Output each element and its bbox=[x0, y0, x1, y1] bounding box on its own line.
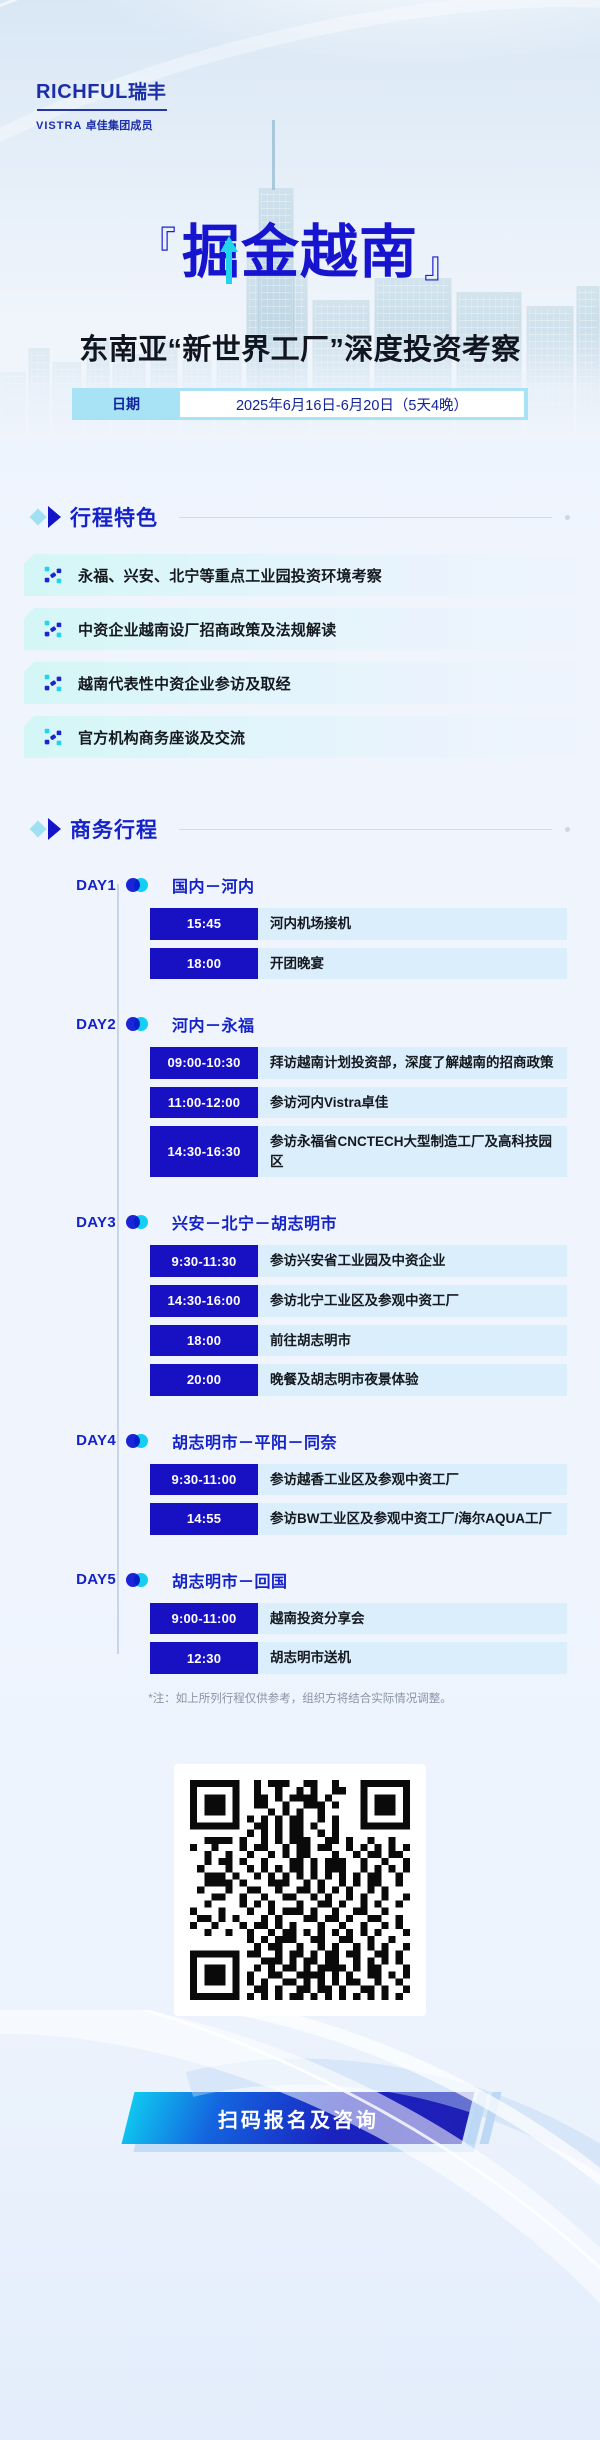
row-desc: 前往胡志明市 bbox=[258, 1325, 567, 1357]
itinerary-row: 18:00 开团晚宴 bbox=[150, 948, 567, 980]
day-header: DAY4 胡志明市－平阳－同奈 bbox=[0, 1426, 600, 1456]
row-desc: 参访永福省CNCTECH大型制造工厂及高科技园区 bbox=[258, 1126, 567, 1177]
row-time: 14:30-16:30 bbox=[150, 1126, 258, 1177]
day-route: 河内－永福 bbox=[172, 1012, 255, 1036]
signup-button[interactable]: 扫码报名及咨询 bbox=[122, 2092, 475, 2144]
row-desc: 越南投资分享会 bbox=[258, 1603, 567, 1635]
row-desc: 晚餐及胡志明市夜景体验 bbox=[258, 1364, 567, 1396]
signup-button-label: 扫码报名及咨询 bbox=[218, 2103, 379, 2132]
page-subtitle: 东南亚“新世界工厂”深度投资考察 bbox=[0, 326, 600, 368]
main-title-text: 掘金越南 bbox=[182, 220, 418, 285]
feature-label: 越南代表性中资企业参访及取经 bbox=[78, 673, 291, 694]
day-header: DAY1 国内－河内 bbox=[0, 870, 600, 900]
feature-item: 中资企业越南设厂招商政策及法规解读 bbox=[24, 608, 576, 650]
qr-code-icon[interactable] bbox=[183, 1773, 417, 2007]
page-title: 掘金越南 bbox=[182, 224, 418, 282]
itinerary-row: 20:00 晚餐及胡志明市夜景体验 bbox=[150, 1364, 567, 1396]
feature-item: 永福、兴安、北宁等重点工业园投资环境考察 bbox=[24, 554, 576, 596]
itinerary-row: 15:45 河内机场接机 bbox=[150, 908, 567, 940]
day-marker-icon bbox=[126, 1573, 172, 1587]
logo-divider bbox=[37, 109, 167, 111]
bracket-left: 『 bbox=[140, 227, 176, 263]
itinerary-section-header: 商务行程 bbox=[32, 814, 570, 844]
section-end-dot bbox=[565, 515, 570, 520]
row-time: 12:30 bbox=[150, 1642, 258, 1674]
logo-ruifeng: 瑞丰 bbox=[128, 82, 166, 103]
itinerary-row: 14:55 参访BW工业区及参观中资工厂/海尔AQUA工厂 bbox=[150, 1503, 567, 1535]
day-label: DAY1 bbox=[24, 877, 116, 894]
day-header: DAY2 河内－永福 bbox=[0, 1009, 600, 1039]
row-time: 18:00 bbox=[150, 1325, 258, 1357]
row-desc: 参访兴安省工业园及中资企业 bbox=[258, 1245, 567, 1277]
day-marker-icon bbox=[126, 1017, 172, 1031]
section-end-dot bbox=[565, 827, 570, 832]
logo-richful: RICHFUL bbox=[36, 81, 128, 103]
date-banner: 日期 2025年6月16日-6月20日（5天4晚） bbox=[72, 388, 528, 420]
sparkle-nodes-icon bbox=[42, 726, 64, 748]
itinerary-row: 11:00-12:00 参访河内Vistra卓佳 bbox=[150, 1087, 567, 1119]
row-time: 11:00-12:00 bbox=[150, 1087, 258, 1119]
feature-label: 官方机构商务座谈及交流 bbox=[78, 727, 245, 748]
bottom-decoration bbox=[0, 2010, 600, 2440]
cta-wrap: 扫码报名及咨询 bbox=[0, 2088, 600, 2152]
itinerary-row: 14:30-16:00 参访北宁工业区及参观中资工厂 bbox=[150, 1285, 567, 1317]
row-time: 20:00 bbox=[150, 1364, 258, 1396]
hero-banner: RICHFUL瑞丰 VISTRA 卓佳集团成员 『 掘金越南 』 东南亚“新世界… bbox=[0, 0, 600, 440]
day-header: DAY5 胡志明市－回国 bbox=[0, 1565, 600, 1595]
day-rows: 9:30-11:00 参访越香工业区及参观中资工厂 14:55 参访BW工业区及… bbox=[150, 1464, 567, 1535]
day-block: DAY4 胡志明市－平阳－同奈 9:30-11:00 参访越香工业区及参观中资工… bbox=[0, 1426, 600, 1535]
chevron-right-icon bbox=[32, 506, 61, 528]
logo-vistra: VISTRA bbox=[36, 120, 82, 132]
row-time: 15:45 bbox=[150, 908, 258, 940]
row-time: 9:00-11:00 bbox=[150, 1603, 258, 1635]
row-desc: 拜访越南计划投资部，深度了解越南的招商政策 bbox=[258, 1047, 567, 1079]
itinerary-row: 9:30-11:30 参访兴安省工业园及中资企业 bbox=[150, 1245, 567, 1277]
day-marker-icon bbox=[126, 1215, 172, 1229]
features-section-title: 行程特色 bbox=[70, 502, 158, 532]
itinerary-row: 09:00-10:30 拜访越南计划投资部，深度了解越南的招商政策 bbox=[150, 1047, 567, 1079]
day-block: DAY3 兴安－北宁－胡志明市 9:30-11:30 参访兴安省工业园及中资企业… bbox=[0, 1207, 600, 1395]
features-list: 永福、兴安、北宁等重点工业园投资环境考察 中资企业越南设厂招商政策及法规解读 bbox=[24, 554, 576, 758]
itinerary-footnote: *注：如上所列行程仅供参考，组织方将结合实际情况调整。 bbox=[0, 1690, 600, 1706]
day-label: DAY3 bbox=[24, 1214, 116, 1231]
day-route: 国内－河内 bbox=[172, 873, 255, 897]
day-rows: 9:00-11:00 越南投资分享会 12:30 胡志明市送机 bbox=[150, 1603, 567, 1674]
itinerary-timeline: DAY1 国内－河内 15:45 河内机场接机 18:00 开团晚宴 bbox=[0, 870, 600, 1712]
row-desc: 河内机场接机 bbox=[258, 908, 567, 940]
qr-card bbox=[174, 1764, 426, 2016]
itinerary-row: 18:00 前往胡志明市 bbox=[150, 1325, 567, 1357]
sparkle-nodes-icon bbox=[42, 618, 64, 640]
features-section-header: 行程特色 bbox=[32, 502, 570, 532]
day-marker-icon bbox=[126, 878, 172, 892]
row-time: 14:30-16:00 bbox=[150, 1285, 258, 1317]
poster-page: RICHFUL瑞丰 VISTRA 卓佳集团成员 『 掘金越南 』 东南亚“新世界… bbox=[0, 0, 600, 2440]
itinerary-section-title: 商务行程 bbox=[70, 814, 158, 844]
logo-main-text: RICHFUL瑞丰 bbox=[36, 82, 167, 102]
cta-zone: 扫码报名及咨询 bbox=[0, 2088, 600, 2208]
row-time: 18:00 bbox=[150, 948, 258, 980]
logo-sub-text: VISTRA 卓佳集团成员 bbox=[36, 117, 167, 133]
day-label: DAY5 bbox=[24, 1571, 116, 1588]
sparkle-nodes-icon bbox=[42, 672, 64, 694]
row-time: 9:30-11:30 bbox=[150, 1245, 258, 1277]
row-desc: 参访越香工业区及参观中资工厂 bbox=[258, 1464, 567, 1496]
itinerary-row: 12:30 胡志明市送机 bbox=[150, 1642, 567, 1674]
itinerary-row: 9:30-11:00 参访越香工业区及参观中资工厂 bbox=[150, 1464, 567, 1496]
brand-logo: RICHFUL瑞丰 VISTRA 卓佳集团成员 bbox=[36, 82, 167, 133]
logo-vistra-cn: 卓佳集团成员 bbox=[86, 120, 153, 132]
section-rule bbox=[179, 829, 552, 830]
day-rows: 09:00-10:30 拜访越南计划投资部，深度了解越南的招商政策 11:00-… bbox=[150, 1047, 567, 1177]
day-label: DAY2 bbox=[24, 1016, 116, 1033]
itinerary-row: 9:00-11:00 越南投资分享会 bbox=[150, 1603, 567, 1635]
row-desc: 参访河内Vistra卓佳 bbox=[258, 1087, 567, 1119]
date-value: 2025年6月16日-6月20日（5天4晚） bbox=[180, 391, 524, 417]
sparkle-nodes-icon bbox=[42, 564, 64, 586]
feature-label: 永福、兴安、北宁等重点工业园投资环境考察 bbox=[78, 565, 382, 586]
row-desc: 参访北宁工业区及参观中资工厂 bbox=[258, 1285, 567, 1317]
feature-item: 越南代表性中资企业参访及取经 bbox=[24, 662, 576, 704]
day-rows: 15:45 河内机场接机 18:00 开团晚宴 bbox=[150, 908, 567, 979]
day-rows: 9:30-11:30 参访兴安省工业园及中资企业 14:30-16:00 参访北… bbox=[150, 1245, 567, 1395]
feature-label: 中资企业越南设厂招商政策及法规解读 bbox=[78, 619, 336, 640]
day-route: 胡志明市－平阳－同奈 bbox=[172, 1429, 337, 1453]
row-desc: 参访BW工业区及参观中资工厂/海尔AQUA工厂 bbox=[258, 1503, 567, 1535]
row-time: 09:00-10:30 bbox=[150, 1047, 258, 1079]
row-desc: 开团晚宴 bbox=[258, 948, 567, 980]
chevron-right-icon bbox=[32, 818, 61, 840]
section-rule bbox=[179, 517, 552, 518]
day-header: DAY3 兴安－北宁－胡志明市 bbox=[0, 1207, 600, 1237]
day-route: 胡志明市－回国 bbox=[172, 1568, 288, 1592]
hero-title-row: 『 掘金越南 』 bbox=[0, 224, 600, 282]
bracket-right: 』 bbox=[424, 247, 460, 283]
day-marker-icon bbox=[126, 1434, 172, 1448]
feature-item: 官方机构商务座谈及交流 bbox=[24, 716, 576, 758]
row-time: 14:55 bbox=[150, 1503, 258, 1535]
row-desc: 胡志明市送机 bbox=[258, 1642, 567, 1674]
qr-section bbox=[0, 1764, 600, 2016]
row-time: 9:30-11:00 bbox=[150, 1464, 258, 1496]
day-label: DAY4 bbox=[24, 1432, 116, 1449]
day-block: DAY1 国内－河内 15:45 河内机场接机 18:00 开团晚宴 bbox=[0, 870, 600, 979]
date-label: 日期 bbox=[72, 388, 180, 420]
day-route: 兴安－北宁－胡志明市 bbox=[172, 1210, 337, 1234]
day-block: DAY5 胡志明市－回国 9:00-11:00 越南投资分享会 12:30 胡志… bbox=[0, 1565, 600, 1674]
day-block: DAY2 河内－永福 09:00-10:30 拜访越南计划投资部，深度了解越南的… bbox=[0, 1009, 600, 1177]
itinerary-row: 14:30-16:30 参访永福省CNCTECH大型制造工厂及高科技园区 bbox=[150, 1126, 567, 1177]
